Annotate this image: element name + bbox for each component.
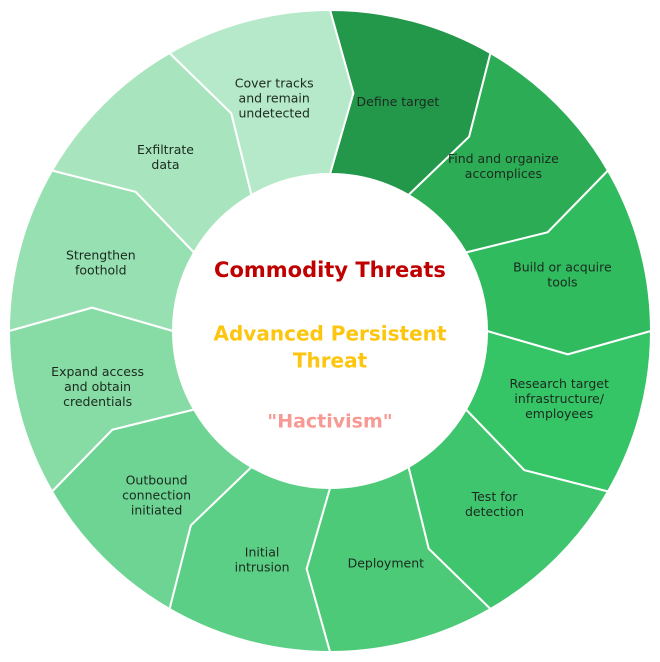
apt-kill-chain-diagram: Define targetFind and organizeaccomplice…	[0, 0, 660, 662]
hub-text-line: Threat	[293, 349, 368, 373]
hub-text-line: "Hactivism"	[267, 411, 392, 433]
hub-text-line: Commodity Threats	[214, 258, 446, 282]
hub-text-line: Advanced Persistent	[214, 322, 447, 346]
process-wheel: Define targetFind and organizeaccomplice…	[0, 0, 660, 662]
